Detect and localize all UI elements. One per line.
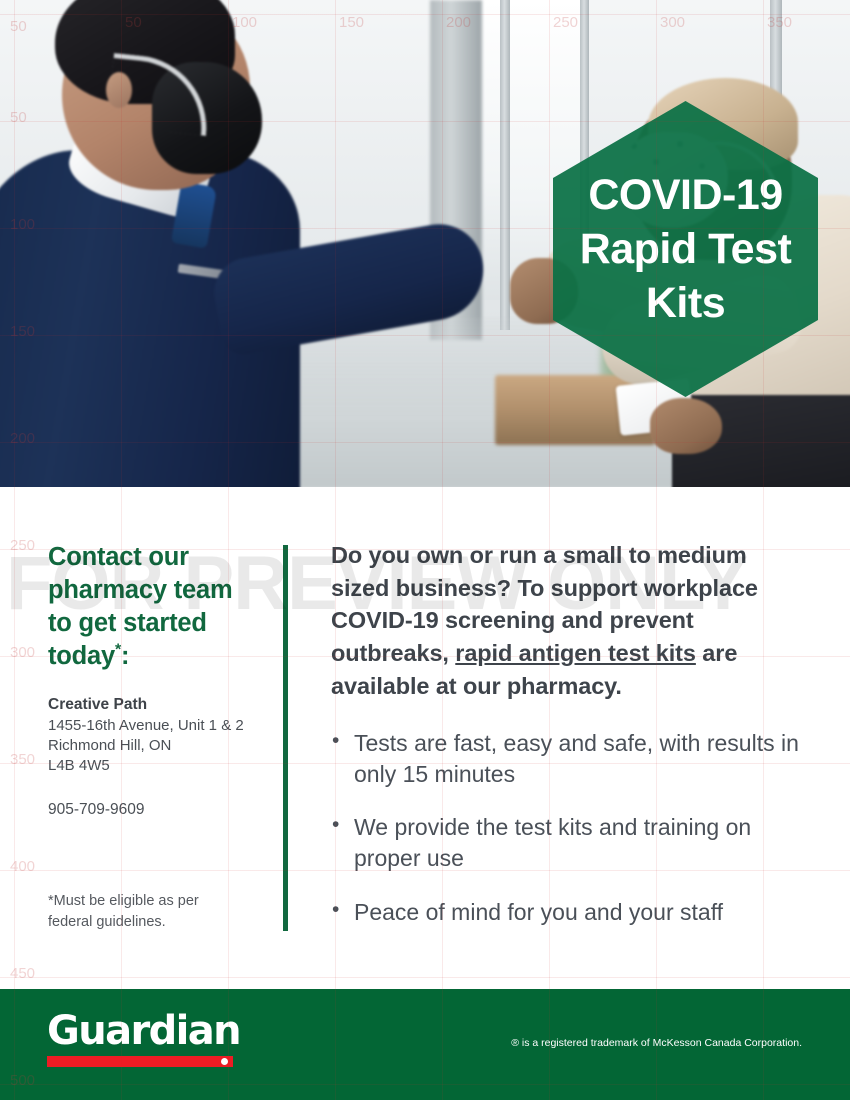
- hero-photo-region: COVID-19 Rapid Test Kits: [0, 0, 850, 487]
- phone-number[interactable]: 905-709-9609: [48, 801, 270, 819]
- covid-test-kits-badge: COVID-19 Rapid Test Kits: [553, 101, 818, 397]
- poster-canvas: COVID-19 Rapid Test Kits Contact our pha…: [0, 0, 850, 1100]
- badge-text: COVID-19 Rapid Test Kits: [580, 168, 792, 331]
- badge-line-2: Rapid Test: [580, 222, 792, 276]
- address-line-1: 1455-16th Avenue, Unit 1 & 2: [48, 716, 270, 736]
- list-item: We provide the test kits and training on…: [331, 812, 801, 873]
- contact-heading-line-4: today: [48, 642, 115, 670]
- badge-line-1: COVID-19: [580, 168, 792, 222]
- footnote-line-1: *Must be eligible as per: [48, 893, 199, 909]
- content-section: Contact our pharmacy team to get started…: [0, 487, 850, 989]
- address-line-2: Richmond Hill, ON: [48, 736, 270, 756]
- trademark-notice: ® is a registered trademark of McKesson …: [511, 1037, 802, 1049]
- intro-emphasis-link[interactable]: rapid antigen test kits: [455, 640, 696, 666]
- list-item: Tests are fast, easy and safe, with resu…: [331, 728, 801, 789]
- hand: [650, 398, 722, 454]
- eligibility-footnote: *Must be eligible as per federal guideli…: [48, 891, 270, 933]
- contact-heading: Contact our pharmacy team to get started…: [48, 541, 270, 674]
- contact-heading-line-1: Contact our: [48, 543, 189, 571]
- footnote-line-2: federal guidelines.: [48, 914, 166, 930]
- guardian-logo-rule: [47, 1056, 233, 1067]
- list-item: Peace of mind for you and your staff: [331, 897, 801, 928]
- guardian-logo: Guardian: [47, 1011, 237, 1067]
- window-mullion: [500, 0, 510, 330]
- contact-heading-line-3: to get started: [48, 609, 207, 637]
- intro-paragraph: Do you own or run a small to medium size…: [331, 539, 801, 702]
- address-line-3: L4B 4W5: [48, 756, 270, 776]
- benefits-list: Tests are fast, easy and safe, with resu…: [331, 728, 801, 927]
- vertical-divider: [283, 545, 288, 931]
- contact-column: Contact our pharmacy team to get started…: [48, 541, 270, 933]
- guardian-logo-text: Guardian: [47, 1011, 237, 1051]
- business-name: Creative Path: [48, 696, 270, 714]
- info-column: Do you own or run a small to medium size…: [331, 539, 801, 950]
- contact-heading-line-2: pharmacy team: [48, 576, 233, 604]
- registered-mark-icon: [221, 1058, 228, 1065]
- heading-colon: :: [121, 642, 129, 670]
- badge-line-3: Kits: [580, 276, 792, 330]
